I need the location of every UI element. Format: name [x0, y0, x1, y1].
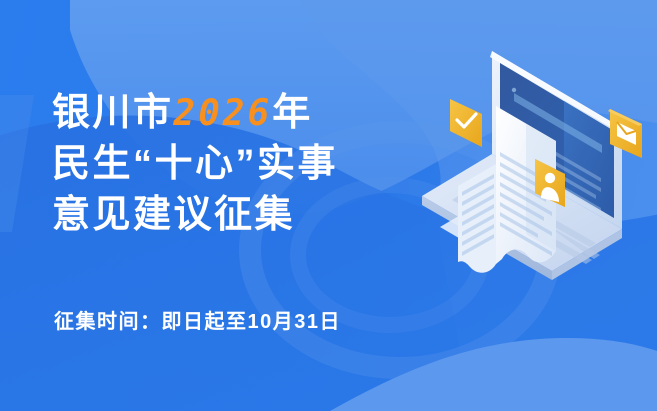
campaign-banner: 银川市2026年 民生“十心”实事 意见建议征集 征集时间：即日起至10月31日	[0, 0, 657, 411]
collection-period-text: 征集时间：即日起至10月31日	[54, 305, 341, 334]
headline-line-1: 银川市2026年	[52, 88, 452, 139]
laptop-camera-icon	[512, 88, 516, 92]
person-head-icon	[545, 173, 555, 183]
headline-year-number: 2026	[174, 93, 273, 134]
headline-line-2: 民生“十心”实事	[52, 139, 452, 190]
headline-year-suffix: 年	[272, 92, 313, 134]
headline-city: 银川市	[52, 92, 174, 134]
check-badge	[450, 99, 482, 147]
headline-block: 银川市2026年 民生“十心”实事 意见建议征集	[52, 88, 452, 241]
headline-line-3: 意见建议征集	[52, 190, 452, 241]
